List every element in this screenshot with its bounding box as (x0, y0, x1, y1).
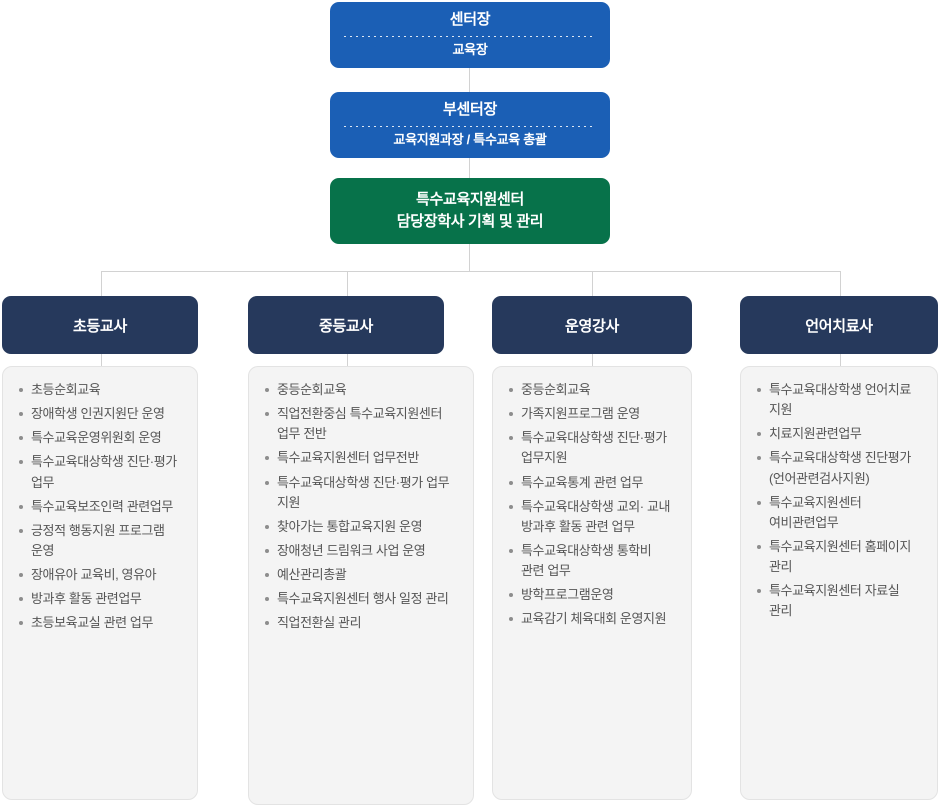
duty-item: 가족지원프로그램 운영 (507, 404, 677, 424)
column-head-label: 언어치료사 (805, 315, 873, 336)
duty-list: 중등순회교육직업전환중심 특수교육지원센터 업무 전반특수교육지원센터 업무전반… (263, 380, 459, 634)
connector-drop-column-0 (101, 271, 102, 296)
duty-item: 장애유아 교육비, 영유아 (17, 565, 183, 585)
duty-item: 특수교육지원센터 행사 일정 관리 (263, 589, 459, 609)
duty-item: 특수교육운영위원회 운영 (17, 428, 183, 448)
connector-drop-column-3 (840, 271, 841, 296)
duty-item: 직업전환중심 특수교육지원센터 업무 전반 (263, 404, 459, 444)
connector-support-to-bus (469, 244, 470, 271)
duty-list: 특수교육대상학생 언어치료 지원치료지원관련업무특수교육대상학생 진단평가 (언… (755, 380, 923, 622)
duty-item: 중등순회교육 (507, 380, 677, 400)
connector-center-to-deputy (469, 68, 470, 92)
duty-item: 방학프로그램운영 (507, 585, 677, 605)
duty-item: 교육감기 체육대회 운영지원 (507, 609, 677, 629)
duty-item: 직업전환실 관리 (263, 613, 459, 633)
connector-head-to-panel-1 (347, 354, 348, 366)
deputy-director-title: 부센터장 (443, 102, 497, 119)
duty-item: 장애학생 인권지원단 운영 (17, 404, 183, 424)
connector-deputy-to-support (469, 158, 470, 178)
column-head-speech-therapist: 언어치료사 (740, 296, 938, 354)
duty-item: 초등순회교육 (17, 380, 183, 400)
duty-item: 방과후 활동 관련업무 (17, 589, 183, 609)
duty-item: 예산관리총괄 (263, 565, 459, 585)
duty-item: 특수교육대상학생 통학비 관련 업무 (507, 541, 677, 581)
column-head-label: 중등교사 (319, 315, 373, 336)
duty-item: 특수교육보조인력 관련업무 (17, 497, 183, 517)
duty-panel-speech-therapist: 특수교육대상학생 언어치료 지원치료지원관련업무특수교육대상학생 진단평가 (언… (740, 366, 938, 800)
duty-item: 특수교육지원센터 자료실 관리 (755, 581, 923, 621)
support-center-line1: 특수교육지원센터 (416, 189, 524, 211)
duty-item: 특수교육지원센터 업무전반 (263, 448, 459, 468)
duty-panel-operations-instructor: 중등순회교육가족지원프로그램 운영특수교육대상학생 진단·평가 업무지원특수교육… (492, 366, 692, 800)
center-director-subtitle: 교육장 (453, 43, 488, 58)
duty-item: 장애청년 드림워크 사업 운영 (263, 541, 459, 561)
duty-item: 특수교육대상학생 진단·평가 업무 (17, 452, 183, 492)
duty-item: 특수교육지원센터 홈페이지 관리 (755, 537, 923, 577)
duty-panel-secondary-teacher: 중등순회교육직업전환중심 특수교육지원센터 업무 전반특수교육지원센터 업무전반… (248, 366, 474, 805)
duty-item: 특수교육통계 관련 업무 (507, 473, 677, 493)
connector-drop-column-2 (592, 271, 593, 296)
support-center-line2: 담당장학사 기획 및 관리 (397, 211, 544, 233)
org-box-deputy-director: 부센터장 교육지원과장 / 특수교육 총괄 (330, 92, 610, 158)
column-head-label: 운영강사 (565, 315, 619, 336)
duty-item: 특수교육지원센터 여비관련업무 (755, 493, 923, 533)
column-head-operations-instructor: 운영강사 (492, 296, 692, 354)
duty-item: 초등보육교실 관련 업무 (17, 613, 183, 633)
column-head-label: 초등교사 (73, 315, 127, 336)
duty-item: 특수교육대상학생 진단·평가 업무지원 (507, 428, 677, 468)
dotted-divider (344, 36, 596, 37)
org-box-support-center: 특수교육지원센터 담당장학사 기획 및 관리 (330, 178, 610, 244)
duty-item: 특수교육대상학생 진단평가 (언어관련검사지원) (755, 448, 923, 488)
org-chart: 센터장 교육장 부센터장 교육지원과장 / 특수교육 총괄 특수교육지원센터 담… (0, 0, 940, 805)
center-director-title: 센터장 (450, 12, 491, 29)
org-box-center-director: 센터장 교육장 (330, 2, 610, 68)
column-head-secondary-teacher: 중등교사 (248, 296, 444, 354)
deputy-director-subtitle: 교육지원과장 / 특수교육 총괄 (393, 133, 546, 148)
connector-head-to-panel-2 (592, 354, 593, 366)
duty-list: 중등순회교육가족지원프로그램 운영특수교육대상학생 진단·평가 업무지원특수교육… (507, 380, 677, 630)
duty-item: 찾아가는 통합교육지원 운영 (263, 517, 459, 537)
duty-item: 긍정적 행동지원 프로그램 운영 (17, 521, 183, 561)
duty-item: 특수교육대상학생 교외· 교내 방과후 활동 관련 업무 (507, 497, 677, 537)
column-head-elementary-teacher: 초등교사 (2, 296, 198, 354)
connector-drop-column-1 (347, 271, 348, 296)
duty-panel-elementary-teacher: 초등순회교육장애학생 인권지원단 운영특수교육운영위원회 운영특수교육대상학생 … (2, 366, 198, 800)
dotted-divider (344, 126, 596, 127)
duty-item: 특수교육대상학생 언어치료 지원 (755, 380, 923, 420)
duty-item: 특수교육대상학생 진단·평가 업무 지원 (263, 473, 459, 513)
connector-head-to-panel-0 (101, 354, 102, 366)
duty-item: 중등순회교육 (263, 380, 459, 400)
connector-head-to-panel-3 (840, 354, 841, 366)
connector-horizontal-bus (101, 271, 841, 272)
duty-list: 초등순회교육장애학생 인권지원단 운영특수교육운영위원회 운영특수교육대상학생 … (17, 380, 183, 634)
duty-item: 치료지원관련업무 (755, 424, 923, 444)
